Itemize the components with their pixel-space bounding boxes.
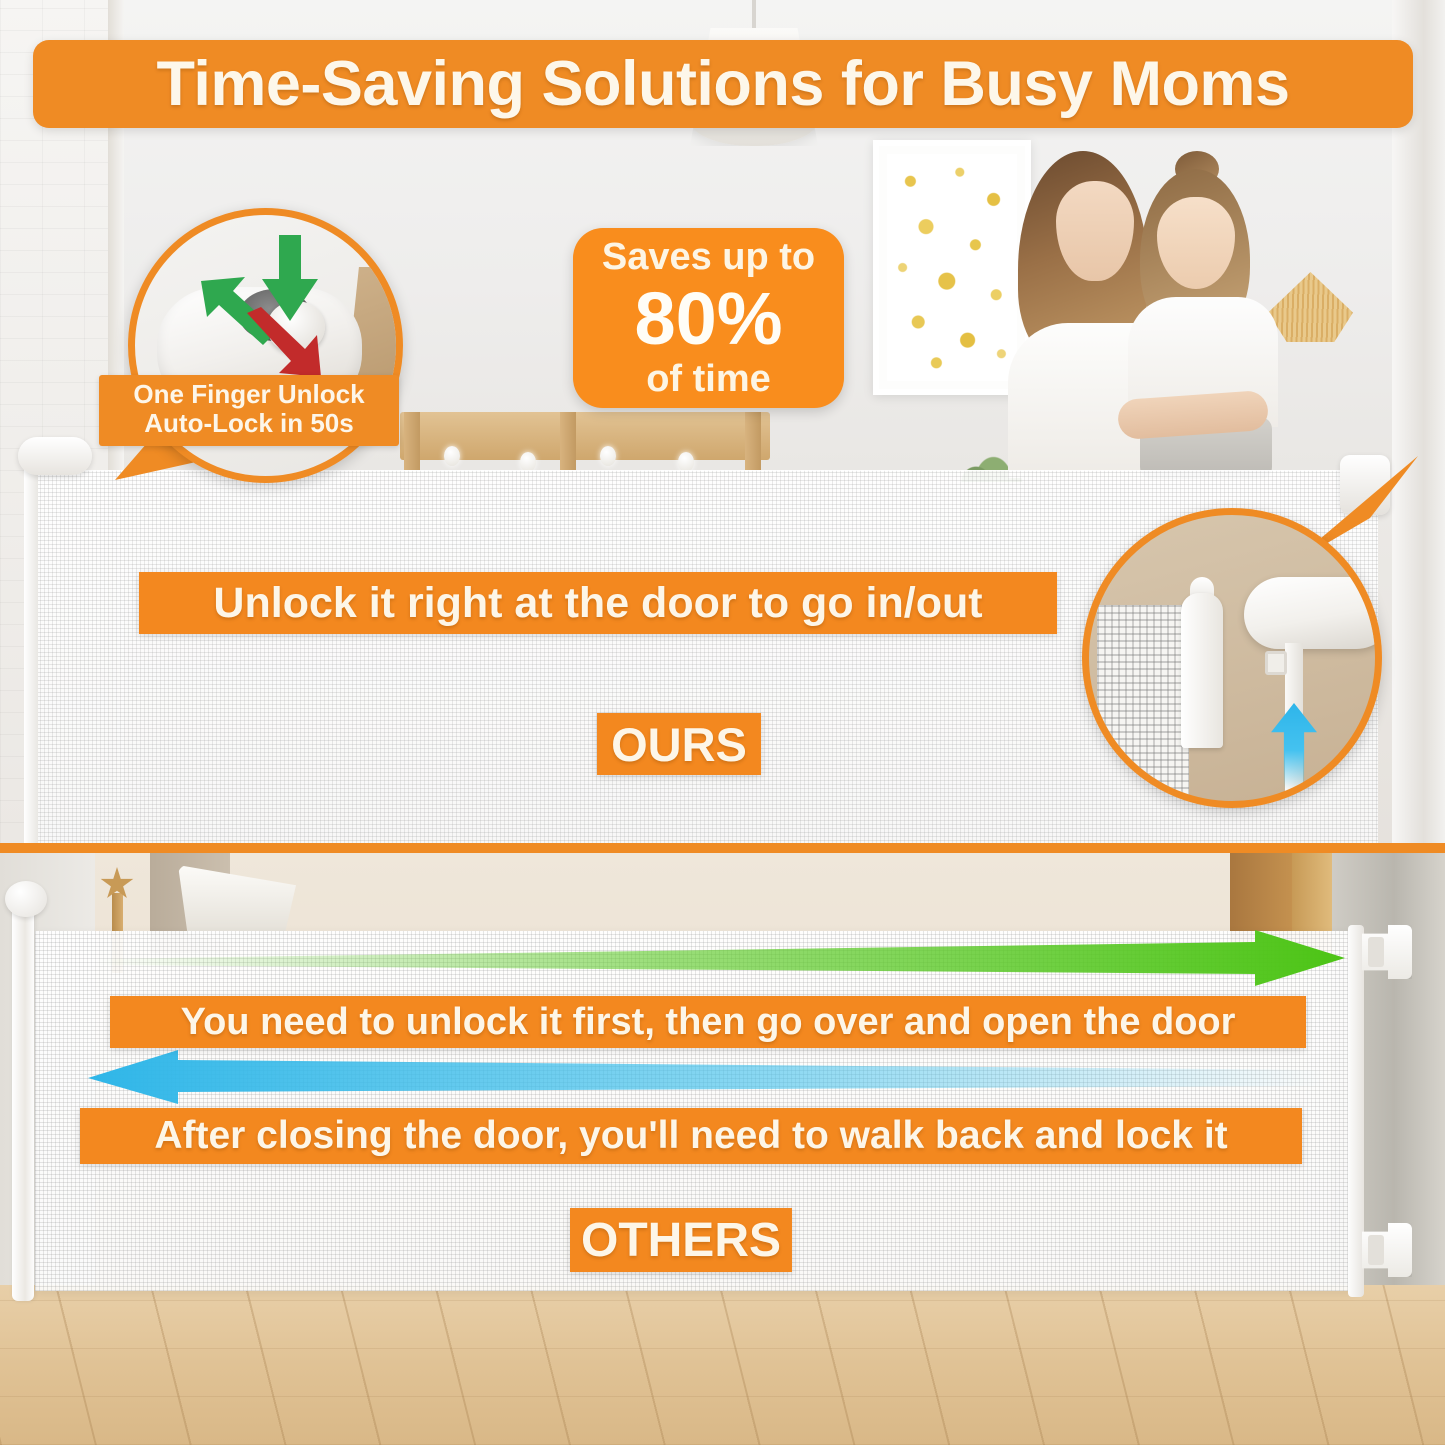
- arrow-right-green-icon: [95, 928, 1345, 988]
- others-line1-text: You need to unlock it first, then go ove…: [181, 1001, 1236, 1044]
- ours-headline-text: Unlock it right at the door to go in/out: [213, 579, 982, 628]
- mother-and-child-photo: [1000, 145, 1300, 475]
- product-infographic: Time-Saving Solutions for Busy Moms Save…: [0, 0, 1445, 1445]
- callout-gate-mesh: [1097, 605, 1189, 808]
- others-line1-banner: You need to unlock it first, then go ove…: [110, 996, 1306, 1048]
- gate-left-rail-top: [24, 462, 38, 845]
- arrow-left-blue-icon: [88, 1048, 1328, 1106]
- rail-post: [745, 412, 761, 470]
- callout-latch-detail: [1082, 508, 1382, 808]
- panel-divider: [0, 843, 1445, 853]
- callout-gate-post: [1181, 593, 1223, 748]
- gate-right-rail: [1348, 925, 1364, 1297]
- others-tag-banner: OTHERS: [570, 1208, 792, 1272]
- callout-left-label: One Finger Unlock Auto-Lock in 50s: [99, 375, 399, 446]
- string-light-bulb: [600, 446, 616, 466]
- arrow-down-right-red-icon: [243, 307, 325, 383]
- gate-roller-post: [12, 901, 34, 1301]
- savings-badge: Saves up to 80% of time: [573, 228, 844, 408]
- callout-left-label-line2: Auto-Lock in 50s: [107, 409, 391, 438]
- string-light-bulb: [678, 452, 694, 472]
- headline-text: Time-Saving Solutions for Busy Moms: [157, 48, 1290, 120]
- callout-left-label-line1: One Finger Unlock: [107, 380, 391, 409]
- ours-headline-banner: Unlock it right at the door to go in/out: [139, 572, 1057, 634]
- headline-banner: Time-Saving Solutions for Busy Moms: [33, 40, 1413, 128]
- wood-floor: [0, 1285, 1445, 1445]
- rail-post: [404, 412, 420, 470]
- callout-latch-housing: [1244, 577, 1382, 649]
- others-line2-banner: After closing the door, you'll need to w…: [80, 1108, 1302, 1164]
- string-light-bulb: [444, 446, 460, 466]
- savings-badge-line1: Saves up to: [602, 238, 815, 276]
- pendant-lamp-cord: [752, 0, 756, 30]
- wall-art-dots: [887, 154, 1017, 381]
- ours-tag-banner: OURS: [597, 713, 761, 775]
- others-tag-text: OTHERS: [581, 1213, 781, 1268]
- savings-badge-line3: of time: [646, 360, 771, 398]
- string-light-bulb: [520, 452, 536, 472]
- wall-bracket-slot-bottom: [1368, 1235, 1384, 1265]
- others-line2-text: After closing the door, you'll need to w…: [154, 1114, 1227, 1158]
- savings-badge-percent: 80%: [634, 280, 782, 358]
- gate-roller-cap: [5, 881, 47, 917]
- callout-latch-clip: [1265, 651, 1287, 675]
- ours-tag-text: OURS: [611, 717, 747, 772]
- arrow-up-blue-icon: [1271, 703, 1317, 789]
- rail-post: [560, 412, 576, 470]
- wall-bracket-slot-top: [1368, 937, 1384, 967]
